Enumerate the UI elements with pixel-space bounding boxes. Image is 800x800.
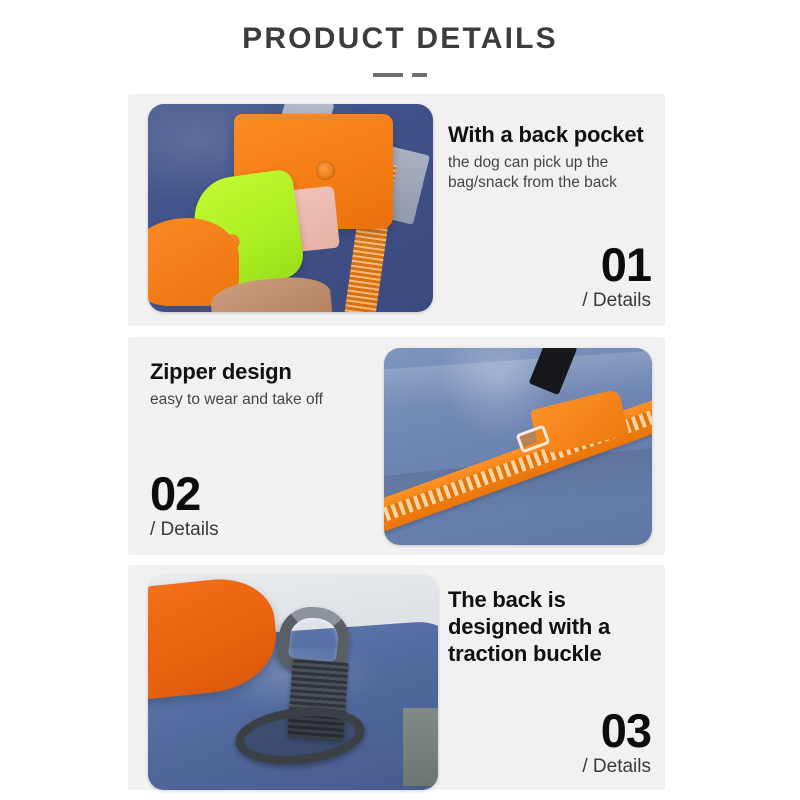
product-photo-zipper: [384, 348, 652, 545]
detail-number: 03: [582, 709, 651, 754]
detail-headline: The back is designed with a traction buc…: [448, 587, 663, 667]
detail-card-03: The back is designed with a traction buc…: [128, 565, 665, 790]
detail-text-01: With a back pocket the dog can pick up t…: [448, 122, 653, 194]
detail-number-label: / Details: [582, 290, 651, 312]
divider-dash-short: [412, 73, 427, 77]
detail-number-block-01: 01 / Details: [582, 243, 651, 312]
page-header: PRODUCT DETAILS: [0, 0, 800, 77]
product-photo-traction-buckle: [148, 575, 438, 790]
detail-subline: easy to wear and take off: [150, 390, 375, 410]
product-photo-back-pocket: [148, 104, 433, 312]
detail-card-01: With a back pocket the dog can pick up t…: [128, 94, 665, 326]
detail-headline: Zipper design: [150, 359, 375, 386]
divider-dash-long: [373, 73, 403, 77]
detail-text-03: The back is designed with a traction buc…: [448, 587, 663, 667]
detail-number: 02: [150, 472, 219, 517]
detail-number: 01: [582, 243, 651, 288]
detail-headline: With a back pocket: [448, 122, 653, 149]
detail-card-02: Zipper design easy to wear and take off …: [128, 337, 665, 555]
detail-number-label: / Details: [150, 519, 219, 541]
detail-text-02: Zipper design easy to wear and take off: [150, 359, 375, 410]
page-title: PRODUCT DETAILS: [0, 22, 800, 56]
detail-subline: the dog can pick up the bag/snack from t…: [448, 153, 653, 194]
detail-number-block-03: 03 / Details: [582, 709, 651, 778]
product-details-page: PRODUCT DETAILS With a back pocket: [0, 0, 800, 800]
title-divider: [0, 73, 800, 77]
detail-number-label: / Details: [582, 756, 651, 778]
detail-number-block-02: 02 / Details: [150, 472, 219, 541]
